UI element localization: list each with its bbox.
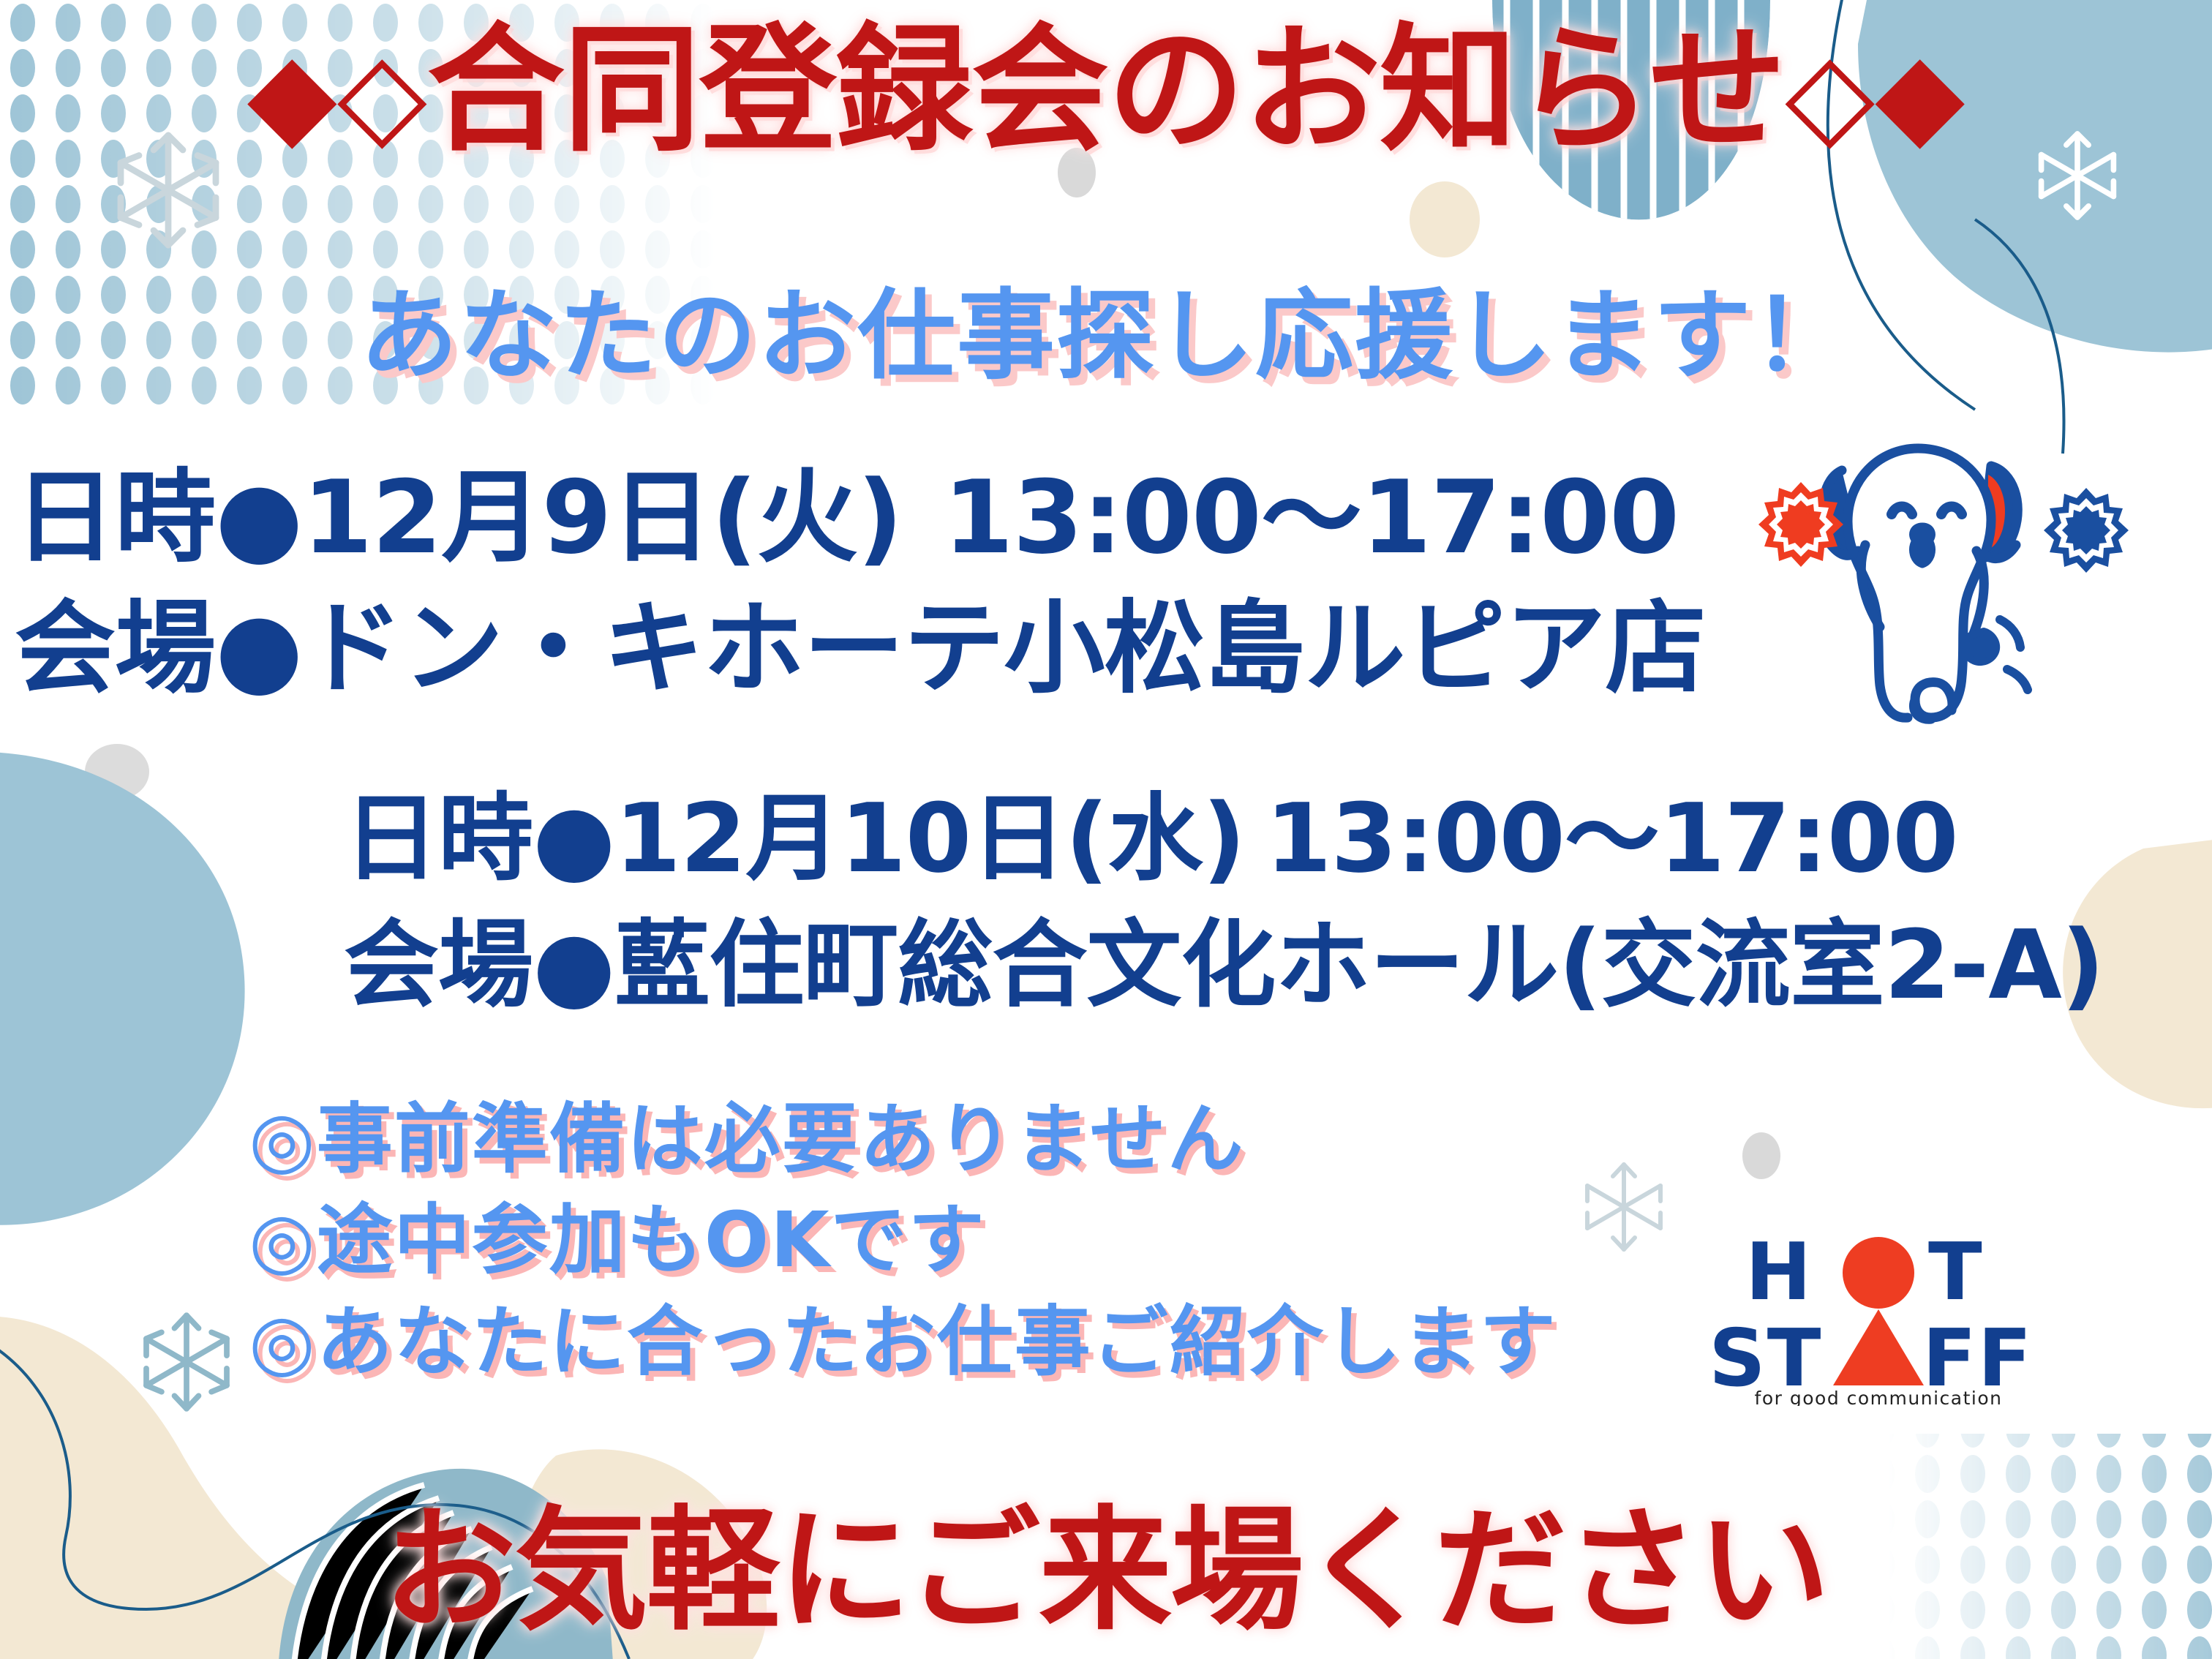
event-1-datetime-line: 日時●12月9日(火)13:00〜17:00 [15,452,1705,583]
event-1-venue: 会場●ドン・キホーテ小松島ルピア店 [15,583,1705,714]
logo-red-triangle-icon [1833,1309,1924,1385]
diamond-open-icon: ◇ [337,26,427,162]
poster-subtitle: あなたのお仕事探し応援します！ [0,256,2212,398]
logo-t: T [1928,1227,1984,1318]
blue-pompom-icon [2044,488,2129,573]
list-item: ◎あなたに合ったお仕事ご紹介します [249,1291,1557,1392]
event-2-venue: 会場●藍住町総合文化ホール(交流室2-A) [344,902,2104,1028]
title-text: 合同登録会のお知らせ [427,20,1785,161]
event-1-time: 13:00〜17:00 [944,459,1679,576]
diamond-open-icon: ◇ [1785,26,1875,162]
diamond-filled-icon: ◆ [1875,26,1965,162]
cta-text: お気軽にご来場ください [383,1463,1829,1655]
event-1-date-label: 日時●12月9日(火) [15,459,903,576]
event-block-2: 日時●12月10日(水)13:00〜17:00 会場●藍住町総合文化ホール(交流… [344,775,2104,1028]
event-2-datetime-line: 日時●12月10日(水)13:00〜17:00 [344,775,2104,902]
poster-title: ◆◇合同登録会のお知らせ◇◆ [0,20,2212,162]
logo-tagline: for good communication [1755,1388,2003,1406]
hot-staff-logo: H T ST FF for good communication [1696,1223,2061,1406]
benefits-list: ◎事前準備は必要ありません ◎途中参加もOKです ◎あなたに合ったお仕事ご紹介し… [249,1088,1557,1392]
event-block-1: 日時●12月9日(火)13:00〜17:00 会場●ドン・キホーテ小松島ルピア店 [15,452,1705,715]
event-2-time: 13:00〜17:00 [1265,783,1958,894]
diamond-filled-icon: ◆ [247,26,337,162]
logo-red-circle-icon [1843,1237,1914,1309]
subtitle-text: あなたのお仕事探し応援します！ [360,256,1852,398]
logo-h: H [1745,1227,1813,1318]
list-item: ◎途中参加もOKです [249,1189,1557,1290]
event-2-date-label: 日時●12月10日(水) [344,783,1245,894]
call-to-action: お気軽にご来場ください [0,1463,2212,1655]
cheering-bear-mascot-icon [1756,428,2172,742]
list-item: ◎事前準備は必要ありません [249,1088,1557,1189]
